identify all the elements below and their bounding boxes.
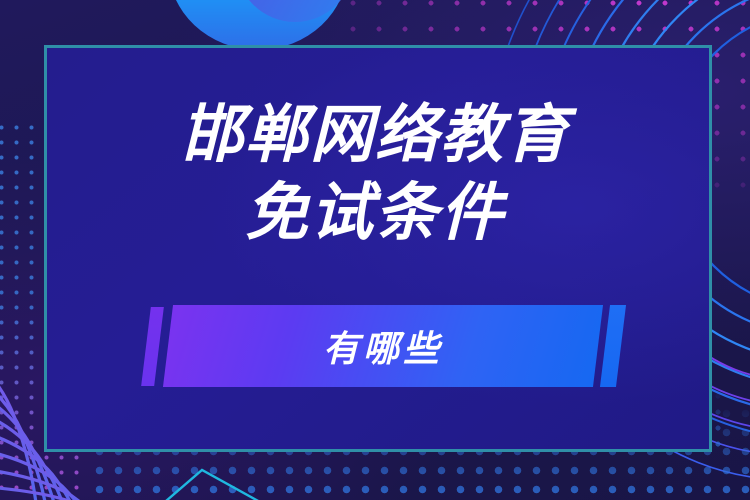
page-title: 邯郸网络教育 免试条件 — [0, 96, 750, 252]
title-line-2: 免试条件 — [0, 174, 750, 252]
banner-accent-bar-right — [600, 305, 626, 387]
title-line-1: 邯郸网络教育 — [180, 100, 570, 170]
subtitle-text: 有哪些 — [168, 305, 598, 387]
poster-content: 邯郸网络教育 免试条件 有哪些 — [0, 0, 750, 500]
banner-accent-bar-left — [141, 307, 164, 386]
poster-canvas: 邯郸网络教育 免试条件 有哪些 — [0, 0, 750, 500]
subtitle-banner: 有哪些 — [0, 303, 750, 389]
